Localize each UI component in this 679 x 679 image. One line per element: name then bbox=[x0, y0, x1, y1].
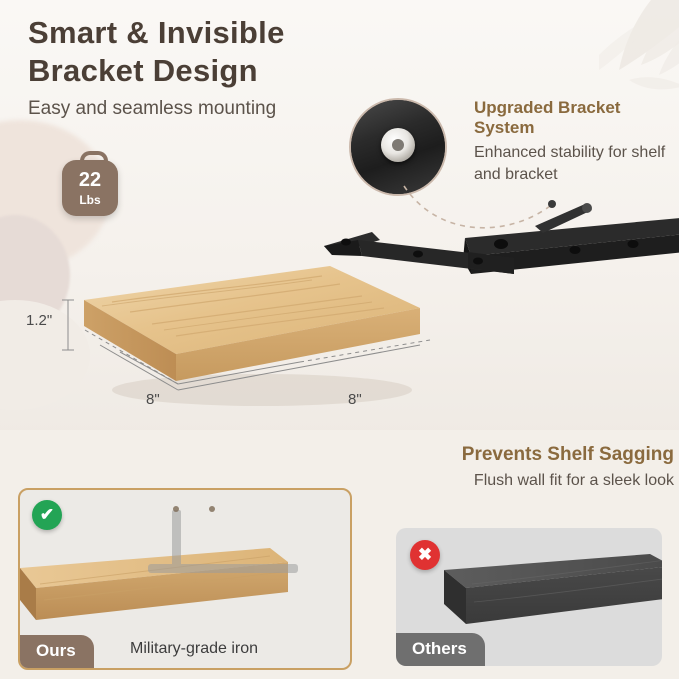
headline-line1: Smart & Invisible bbox=[28, 14, 448, 52]
ours-caption: Military-grade iron bbox=[130, 640, 258, 658]
bottom-subtitle: Flush wall fit for a sleek look bbox=[380, 472, 674, 490]
headline-line2: Bracket Design bbox=[28, 52, 448, 90]
product-infographic: Smart & Invisible Bracket Design Easy an… bbox=[0, 0, 679, 679]
dimension-depth: 8" bbox=[146, 391, 160, 408]
callout-description: Enhanced stability for shelf and bracket bbox=[474, 142, 679, 185]
wood-shelf-board bbox=[72, 262, 432, 412]
ours-bracket-ghost bbox=[138, 506, 328, 598]
dimension-thickness: 1.2" bbox=[26, 312, 52, 329]
weight-value: 22 bbox=[62, 160, 118, 190]
tag-others: Others bbox=[396, 633, 485, 666]
cross-circle-icon: ✖ bbox=[410, 540, 440, 570]
others-shelf-illustration bbox=[444, 554, 662, 644]
bottom-title: Prevents Shelf Sagging bbox=[410, 444, 674, 466]
dimension-width: 8" bbox=[348, 391, 362, 408]
weight-badge: 22 Lbs bbox=[62, 160, 118, 216]
weight-unit: Lbs bbox=[62, 190, 118, 206]
screw-washer-icon bbox=[381, 128, 415, 162]
subheadline: Easy and seamless mounting bbox=[28, 98, 276, 120]
panel-others: ✖ Others bbox=[396, 528, 662, 666]
headline: Smart & Invisible Bracket Design bbox=[28, 14, 448, 91]
bracket-zoom-callout bbox=[349, 98, 447, 196]
callout-title: Upgraded Bracket System bbox=[474, 98, 674, 139]
check-circle-icon: ✔ bbox=[32, 500, 62, 530]
tag-ours: Ours bbox=[20, 635, 94, 668]
